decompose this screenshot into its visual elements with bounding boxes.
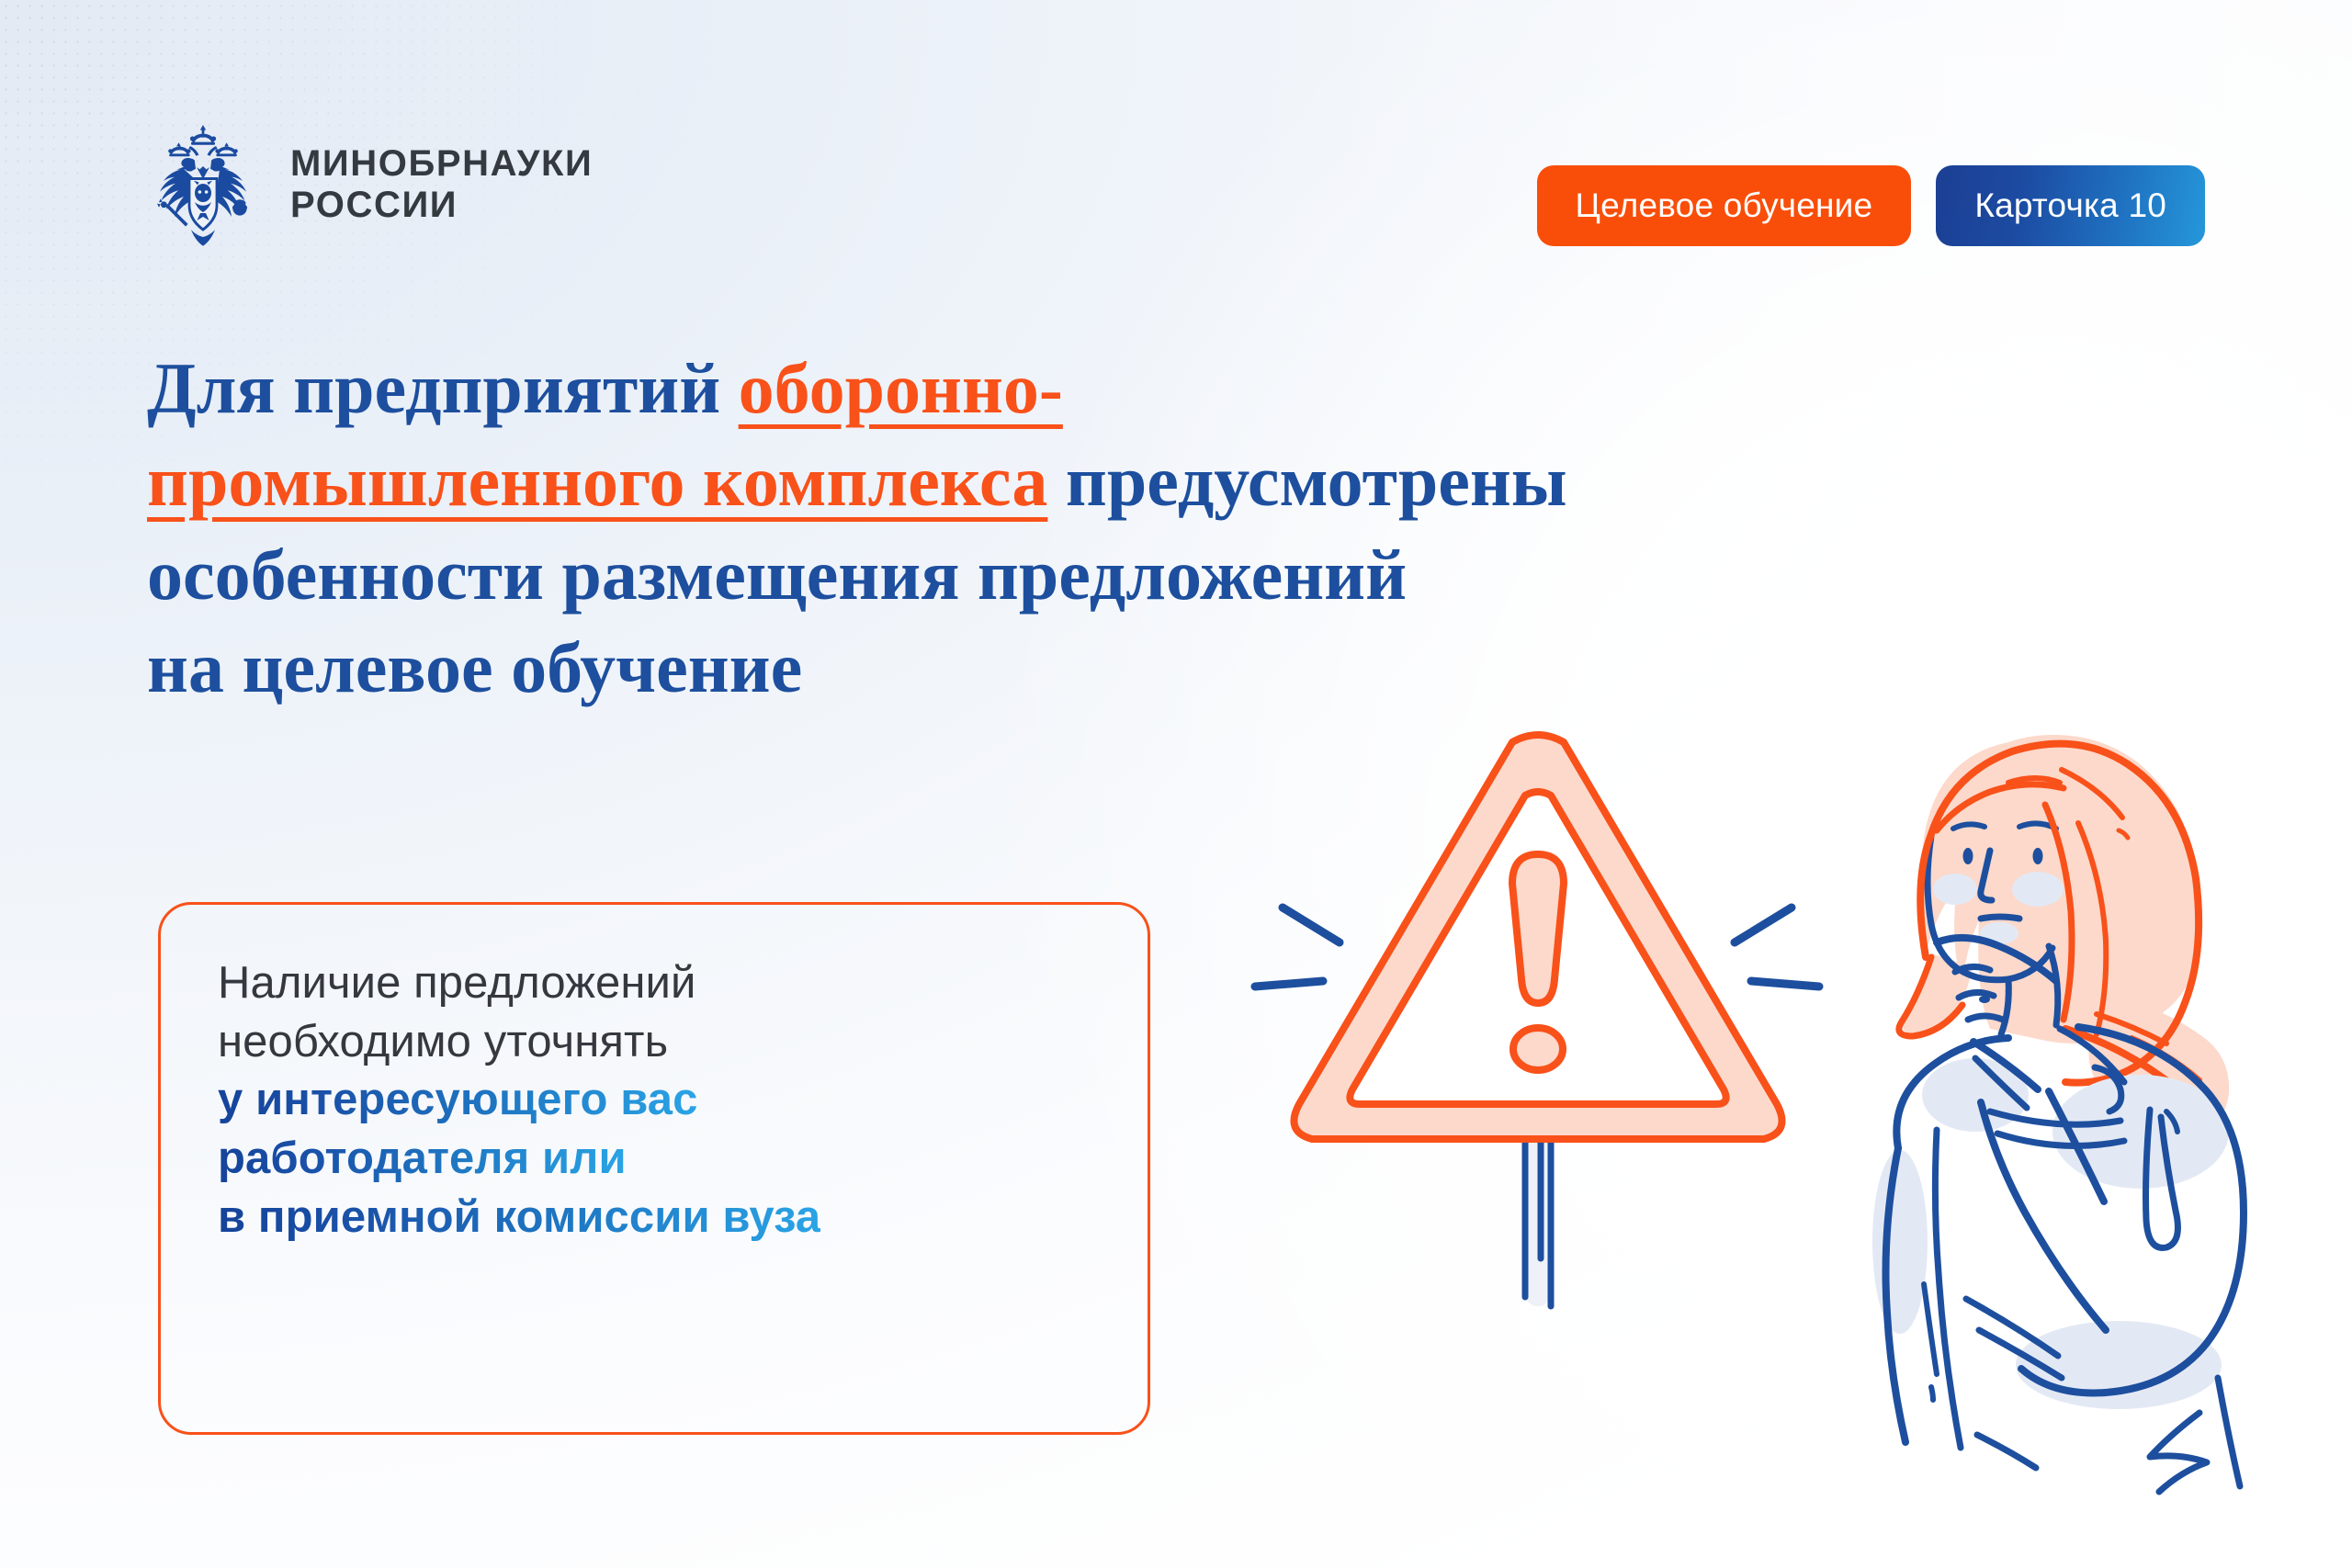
callout-box: Наличие предложений необходимо уточнять … [158, 902, 1150, 1435]
callout-line-1: Наличие предложений [218, 958, 696, 1008]
callout-emphasis-2: работодателя или [218, 1134, 627, 1183]
ministry-logo: МИНОБРНАУКИ РОССИИ [147, 121, 593, 248]
badge-group: Целевое обучение Карточка 10 [1537, 165, 2205, 246]
spark-lines-right-icon [1735, 908, 1819, 987]
spark-lines-left-icon [1255, 908, 1340, 987]
badge-topic[interactable]: Целевое обучение [1537, 165, 1912, 246]
callout-emphasis-1: у интересующего вас [218, 1075, 698, 1124]
poster-canvas: МИНОБРНАУКИ РОССИИ Целевое обучение Карт… [0, 0, 2352, 1568]
sign-post-icon [1521, 920, 1555, 1306]
russian-double-headed-eagle-emblem-icon [147, 121, 259, 248]
headline-line-3: особенности размещения предложений [147, 535, 1407, 615]
headline-part-1: Для предприятий [147, 348, 739, 428]
headline-part-2: предусмотрены [1047, 441, 1566, 521]
ministry-name: МИНОБРНАУКИ РОССИИ [290, 143, 593, 226]
page-title: Для предприятий оборонно- промышленного … [147, 342, 1984, 715]
warning-triangle-exclamation-sign-icon [1294, 735, 1781, 1139]
illustration-area [1222, 707, 2324, 1516]
callout-emphasis-3: в приемной комиссии вуза [218, 1192, 820, 1242]
badge-card-number[interactable]: Карточка 10 [1936, 165, 2205, 246]
callout-text: Наличие предложений необходимо уточнять … [218, 954, 1091, 1247]
headline-accent-1: оборонно- [739, 348, 1063, 428]
thinking-woman-illustration-icon [1872, 735, 2244, 1492]
headline-accent-2: промышленного комплекса [147, 441, 1047, 521]
headline-line-4: на целевое обучение [147, 627, 802, 707]
callout-line-2: необходимо уточнять [218, 1017, 668, 1066]
